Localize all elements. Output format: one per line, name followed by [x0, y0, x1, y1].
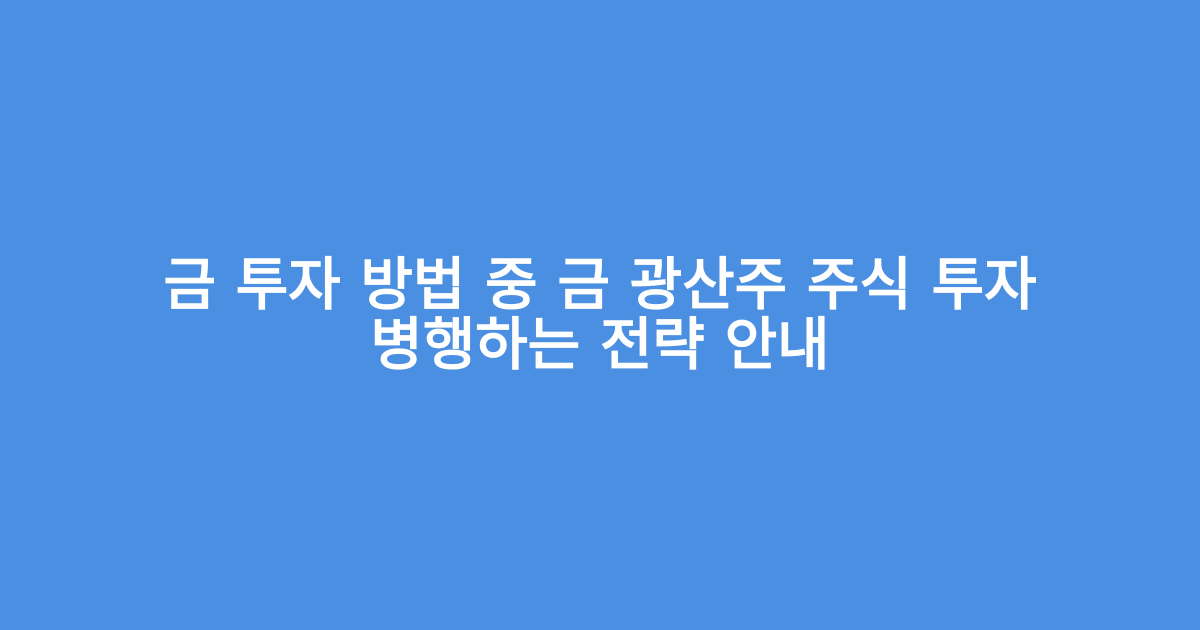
page-title: 금 투자 방법 중 금 광산주 주식 투자 병행하는 전략 안내 [70, 255, 1130, 375]
og-share-card: 금 투자 방법 중 금 광산주 주식 투자 병행하는 전략 안내 [0, 0, 1200, 630]
title-block: 금 투자 방법 중 금 광산주 주식 투자 병행하는 전략 안내 [50, 255, 1150, 375]
